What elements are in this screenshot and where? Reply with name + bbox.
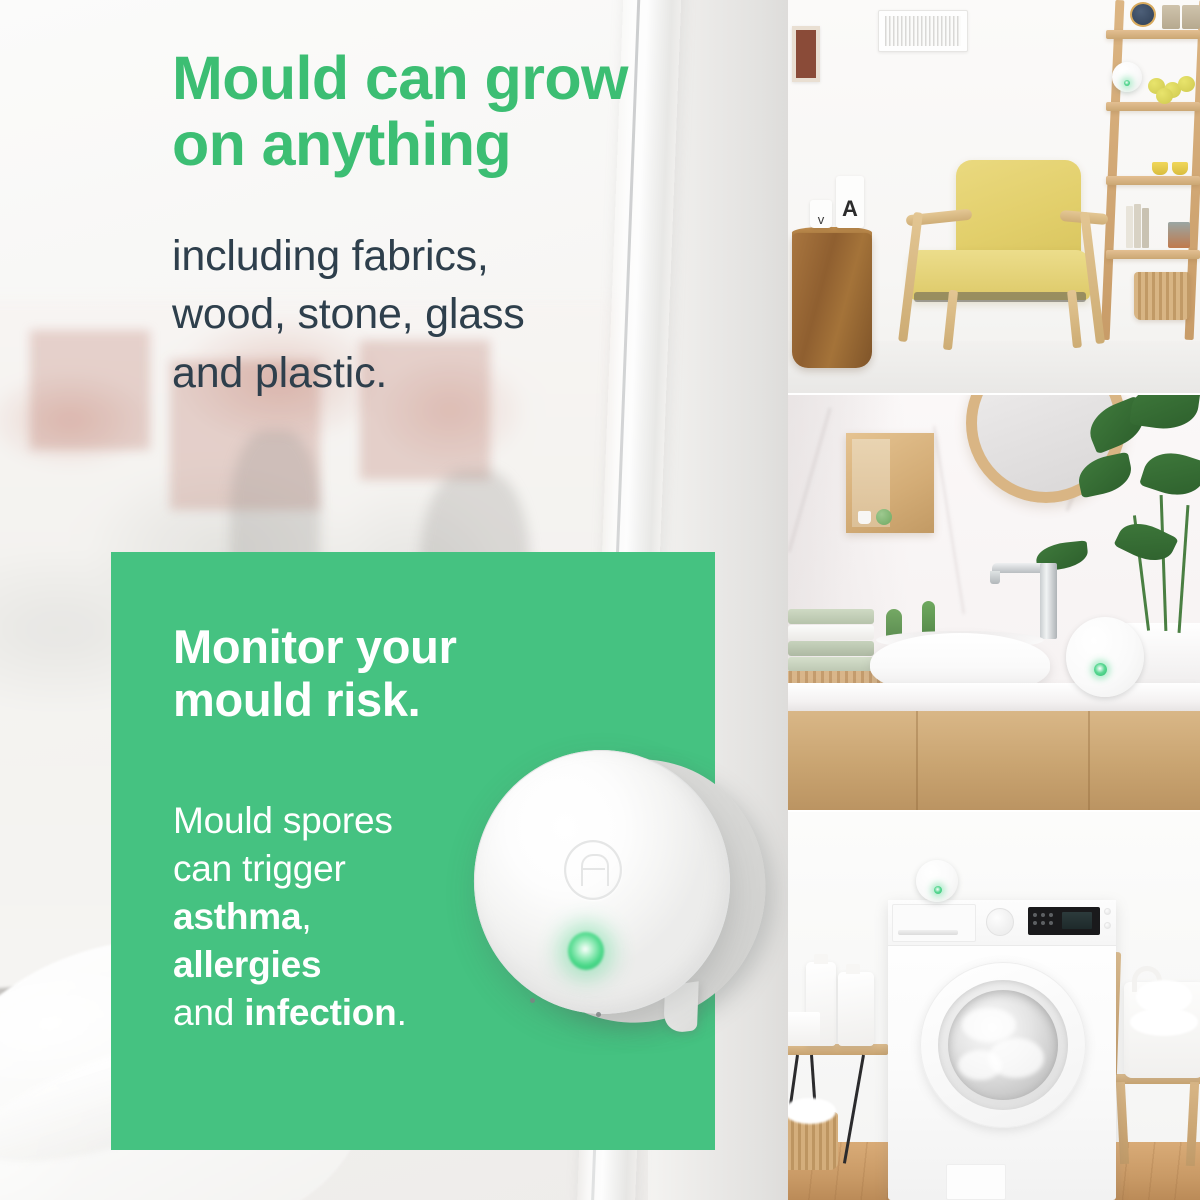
card-body-text: Mould spores can trigger asthma, allergi… xyxy=(173,797,513,1037)
vent-slats xyxy=(885,16,961,46)
ceramic-pot xyxy=(1168,222,1190,248)
cabinet-seam xyxy=(916,711,918,810)
folded-towels xyxy=(788,609,874,673)
storage-jar xyxy=(1162,5,1180,29)
control-display-panel xyxy=(1028,907,1100,935)
shelf-plank xyxy=(1106,102,1200,111)
white-storage-box xyxy=(788,1012,820,1046)
faucet-body xyxy=(1040,563,1057,639)
washer-filter-hatch xyxy=(946,1164,1006,1200)
washer-button[interactable] xyxy=(1104,908,1111,915)
conjunction-and: and xyxy=(173,992,244,1033)
keyword-asthma: asthma xyxy=(173,896,301,937)
letter-ornament: A xyxy=(836,176,864,228)
subheading-line-2: wood, stone, glass xyxy=(172,285,652,343)
laundry-inside xyxy=(962,1008,1016,1042)
keyword-infection: infection xyxy=(244,992,396,1033)
card-body-line-5: and infection. xyxy=(173,989,513,1037)
control-indicator xyxy=(1041,921,1045,925)
page-title: Mould can grow on anything xyxy=(172,46,732,178)
keyword-allergies: allergies xyxy=(173,944,321,985)
drawer-handle xyxy=(898,930,958,935)
sensor-on-washer xyxy=(916,860,958,902)
laundry-inside xyxy=(958,1050,1002,1080)
folded-laundry xyxy=(1130,1008,1198,1036)
cabinet-seam xyxy=(1088,711,1090,810)
green-decor-ball xyxy=(876,509,892,525)
book xyxy=(1142,208,1149,248)
photo-living-room: A v xyxy=(788,0,1200,393)
sensor-vent-hole xyxy=(596,1012,601,1017)
page-subtitle: including fabrics, wood, stone, glass an… xyxy=(172,227,652,402)
ladder-shelf xyxy=(1106,0,1200,355)
shelf-plank xyxy=(1106,30,1200,39)
headline-line-2: on anything xyxy=(172,112,732,178)
armchair-seat-shadow xyxy=(914,292,1086,302)
subheading-line-3: and plastic. xyxy=(172,344,652,402)
wall-picture-frame xyxy=(792,26,820,82)
desk-clock xyxy=(1130,2,1156,27)
control-indicator xyxy=(1049,921,1053,925)
towel xyxy=(788,641,874,656)
detergent-drawer xyxy=(892,904,976,942)
washer-button[interactable] xyxy=(1104,922,1111,929)
sensor-on-counter xyxy=(1066,617,1144,697)
program-dial xyxy=(986,908,1014,936)
wicker-basket xyxy=(1134,272,1190,320)
card-body-line-4: allergies xyxy=(173,941,513,989)
shelf-plank xyxy=(1106,250,1200,259)
apple xyxy=(1178,76,1195,92)
airthings-sensor-device xyxy=(468,742,768,1052)
washer-control-deck xyxy=(888,900,1116,946)
card-title-line-2: mould risk. xyxy=(173,673,593,726)
sensor-led xyxy=(934,886,942,894)
card-body-line-2: can trigger xyxy=(173,845,513,893)
promo-canvas: Mould can grow on anything including fab… xyxy=(0,0,1200,1200)
towel xyxy=(788,625,874,640)
faucet-tip xyxy=(990,571,1000,584)
detergent-bottle xyxy=(838,972,874,1046)
control-indicator xyxy=(1049,913,1053,917)
wood-vanity-cabinet xyxy=(788,711,1200,810)
control-indicator xyxy=(1041,913,1045,917)
wall-air-vent xyxy=(878,10,968,52)
sensor-vent-hole xyxy=(530,998,535,1003)
bottle-cap xyxy=(846,964,860,974)
display-screen xyxy=(1062,912,1092,929)
sensor-on-shelf xyxy=(1112,62,1142,92)
airthings-a-logo-icon xyxy=(564,840,622,900)
washer-drum xyxy=(948,990,1058,1100)
yellow-cup xyxy=(1152,162,1168,175)
control-indicator xyxy=(1033,913,1037,917)
card-title: Monitor your mould risk. xyxy=(173,620,593,726)
towel xyxy=(788,657,874,672)
control-indicator xyxy=(1033,921,1037,925)
shelf-plank xyxy=(1106,176,1200,185)
towel xyxy=(788,609,874,624)
book xyxy=(1134,204,1141,248)
background-building xyxy=(30,330,150,450)
photo-panel-column: A v xyxy=(788,0,1200,1200)
headline-line-1: Mould can grow xyxy=(172,46,732,112)
book xyxy=(1126,206,1133,248)
bottle-cap xyxy=(814,954,828,964)
yellow-cup xyxy=(1172,162,1188,175)
card-body-line-1: Mould spores xyxy=(173,797,513,845)
photo-laundry-room xyxy=(788,812,1200,1200)
comma-after-asthma: , xyxy=(301,896,311,937)
card-body-line-3: asthma, xyxy=(173,893,513,941)
photo-bathroom xyxy=(788,395,1200,810)
ladder-rail xyxy=(1101,0,1125,340)
final-period: . xyxy=(397,992,407,1033)
wood-stump-table xyxy=(792,233,872,368)
status-led-green xyxy=(568,932,604,970)
sensor-led xyxy=(1124,80,1130,86)
storage-jar xyxy=(1182,5,1200,29)
sensor-led xyxy=(1094,663,1107,676)
card-title-line-1: Monitor your xyxy=(173,620,593,673)
mug-letter: v xyxy=(810,200,832,228)
countertop xyxy=(788,683,1200,711)
subheading-line-1: including fabrics, xyxy=(172,227,652,285)
small-plant-pot xyxy=(858,511,871,524)
apple xyxy=(1156,88,1173,104)
wall-shelf-box xyxy=(846,433,934,533)
